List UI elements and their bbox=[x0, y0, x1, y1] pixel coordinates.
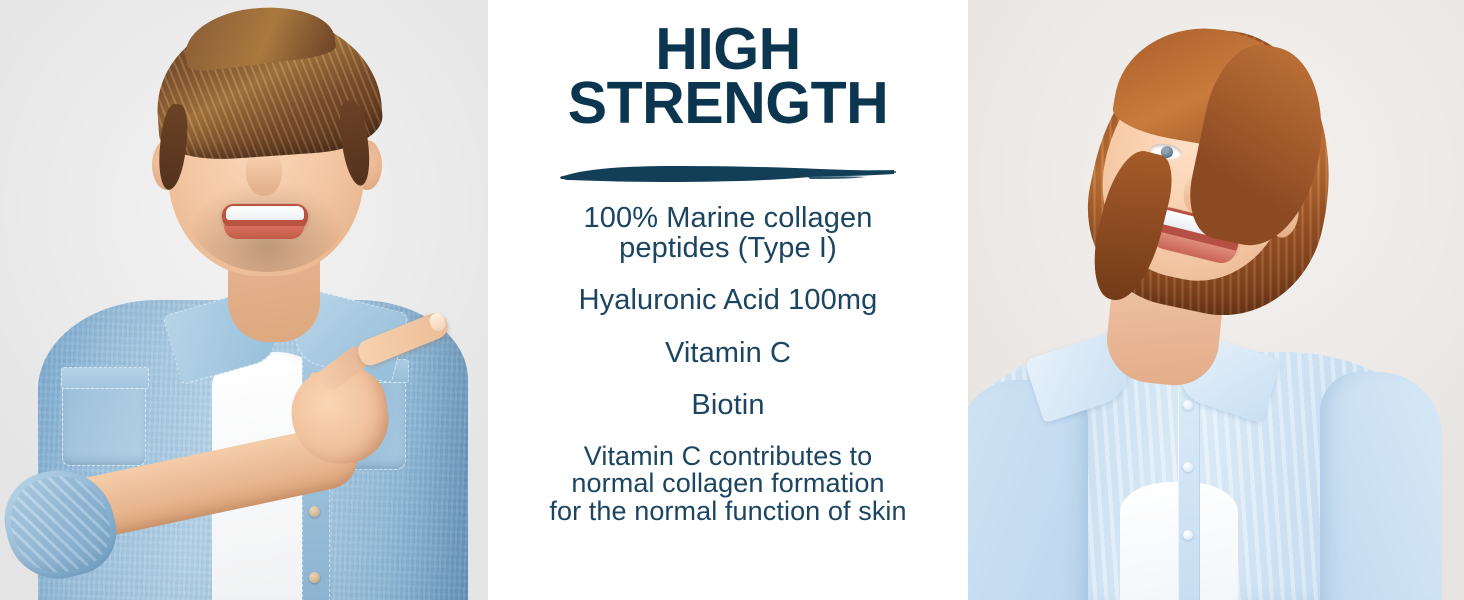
man-shirt-button bbox=[309, 506, 320, 517]
left-photo-man bbox=[0, 0, 488, 600]
health-claim: Vitamin C contributes to normal collagen… bbox=[549, 443, 906, 526]
title-line-2: STRENGTH bbox=[568, 76, 889, 130]
man-figure bbox=[0, 0, 488, 600]
fact-item: Hyaluronic Acid 100mg bbox=[579, 285, 878, 315]
right-photo-woman bbox=[968, 0, 1464, 600]
man-teeth bbox=[226, 206, 304, 220]
man-shirt-button bbox=[309, 572, 320, 583]
ingredient-list: 100% Marine collagen peptides (Type I) H… bbox=[488, 203, 968, 526]
fact-item: Biotin bbox=[691, 390, 764, 420]
woman-blouse-button bbox=[1183, 530, 1193, 540]
product-feature-banner: HIGH STRENGTH 100% Marine collagen pepti… bbox=[0, 0, 1464, 600]
page-title: HIGH STRENGTH bbox=[568, 22, 889, 131]
fact-item: Vitamin C bbox=[665, 338, 791, 368]
woman-blouse-button bbox=[1183, 400, 1193, 410]
man-shirt-pocket-left bbox=[62, 378, 146, 466]
woman-blouse-button bbox=[1183, 462, 1193, 472]
fact-item: 100% Marine collagen peptides (Type I) bbox=[584, 203, 873, 264]
woman-sleeve-right bbox=[1320, 372, 1442, 600]
woman-blouse-placket bbox=[1178, 392, 1200, 600]
brush-stroke-divider bbox=[558, 157, 898, 187]
woman-figure bbox=[968, 0, 1464, 600]
man-lower-lip bbox=[224, 226, 304, 239]
title-line-1: HIGH bbox=[568, 22, 889, 76]
center-text-panel: HIGH STRENGTH 100% Marine collagen pepti… bbox=[488, 0, 968, 600]
